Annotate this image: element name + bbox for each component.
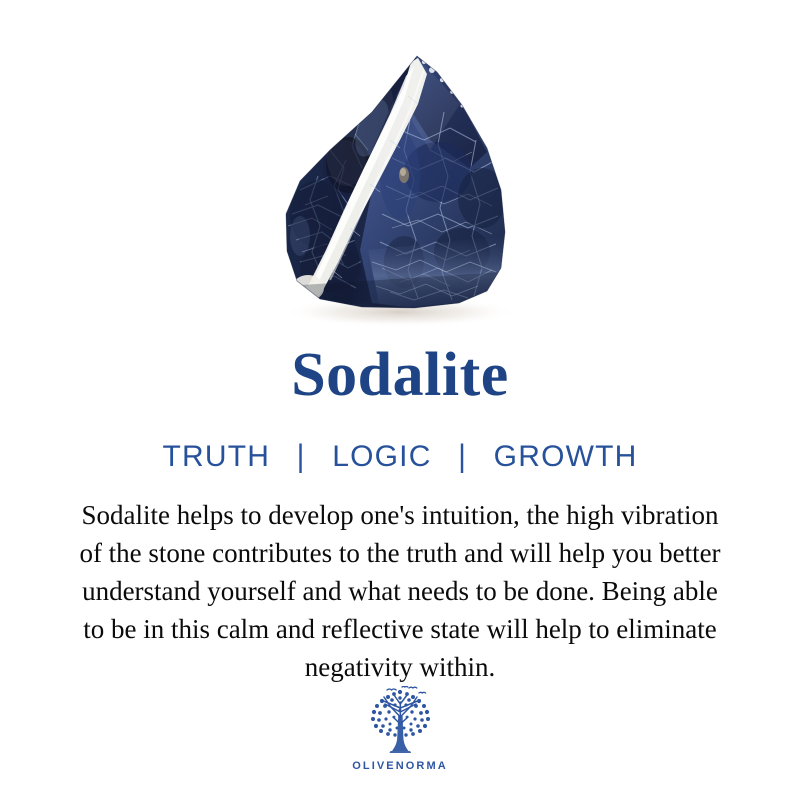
- description-line: negativity within.: [18, 648, 782, 686]
- keyword-separator: |: [280, 437, 323, 477]
- keyword-separator: |: [441, 437, 484, 477]
- page-title: Sodalite: [0, 339, 800, 411]
- description-text: Sodalite helps to develop one's intuitio…: [18, 496, 782, 686]
- description-line: understand yourself and what needs to be…: [18, 572, 782, 610]
- keyword-list: TRUTH | LOGIC | GROWTH: [0, 438, 800, 476]
- sodalite-info-card: Sodalite TRUTH | LOGIC | GROWTH Sodalite…: [0, 0, 800, 800]
- keyword-logic: LOGIC: [332, 438, 431, 476]
- tree-of-life-icon: [357, 686, 443, 758]
- keyword-growth: GROWTH: [494, 438, 638, 476]
- brand-logo: OLIVENORMA: [0, 686, 800, 772]
- sodalite-crystal-image: [0, 0, 800, 340]
- description-line: Sodalite helps to develop one's intuitio…: [18, 496, 782, 534]
- keyword-truth: TRUTH: [162, 438, 270, 476]
- sodalite-crystal-photo: [0, 0, 800, 340]
- brand-name: OLIVENORMA: [352, 760, 448, 772]
- description-line: of the stone contributes to the truth an…: [18, 534, 782, 572]
- description-line: to be in this calm and reflective state …: [18, 610, 782, 648]
